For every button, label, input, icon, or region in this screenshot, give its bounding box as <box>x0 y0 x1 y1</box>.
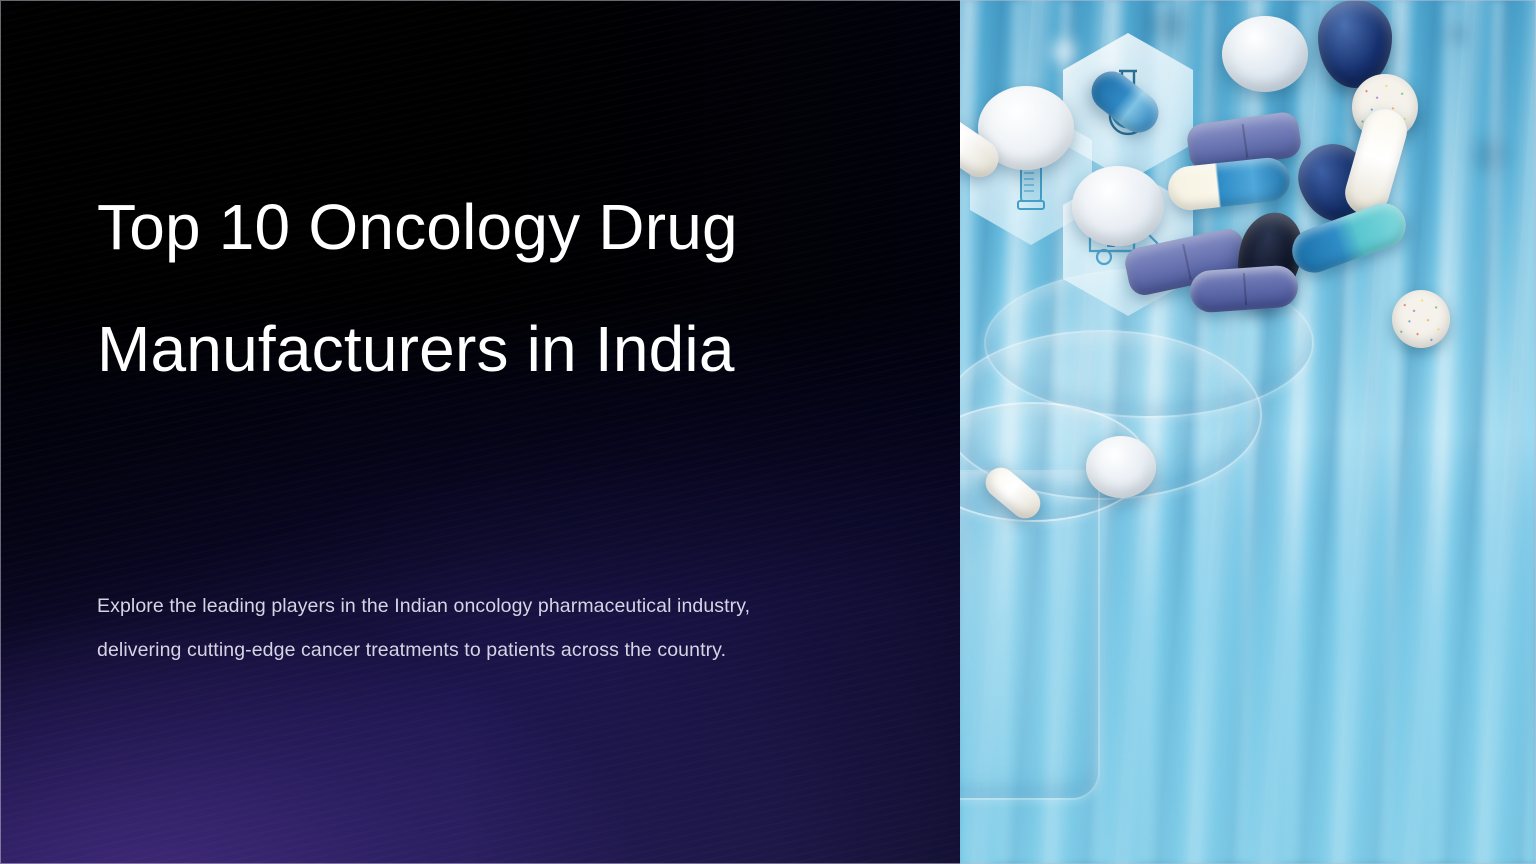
hero-photo <box>960 0 1536 864</box>
title-panel <box>0 0 960 864</box>
slide-subtitle: Explore the leading players in the India… <box>97 584 787 672</box>
title-block: Top 10 Oncology Drug Manufacturers in In… <box>97 166 827 410</box>
slide-title: Top 10 Oncology Drug Manufacturers in In… <box>97 166 827 410</box>
pill-round-white-1 <box>1222 16 1308 92</box>
beaker-left <box>960 470 1100 800</box>
tablet-score-line <box>1243 273 1247 305</box>
pill-round-white-4 <box>1086 436 1156 498</box>
tablet-score-line <box>1242 123 1249 158</box>
tablet-score-line <box>1182 244 1192 280</box>
pill-round-white-3 <box>1072 166 1164 246</box>
pill-capsule-navy-bottom <box>1189 264 1300 313</box>
presentation-slide: Top 10 Oncology Drug Manufacturers in In… <box>0 0 1536 864</box>
pill-speckled-2 <box>1392 290 1450 348</box>
panel-texture <box>0 0 960 864</box>
